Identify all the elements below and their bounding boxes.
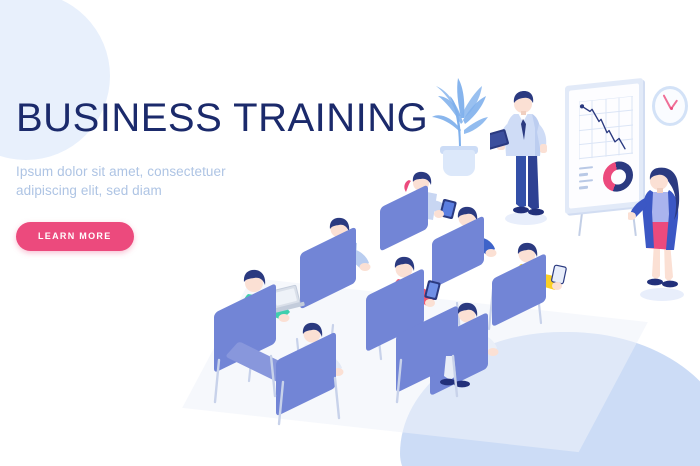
learn-more-button[interactable]: LEARN MORE — [16, 222, 134, 251]
chair-legs-front — [205, 330, 525, 440]
hero-text-block: BUSINESS TRAINING Ipsum dolor sit amet, … — [16, 96, 436, 251]
clock-center-pin — [670, 107, 673, 110]
whiteboard-text-lines — [579, 166, 593, 193]
hero-banner: BUSINESS TRAINING Ipsum dolor sit amet, … — [0, 0, 700, 466]
hero-subtitle: Ipsum dolor sit amet, consectetuer adipi… — [16, 162, 246, 200]
page-title: BUSINESS TRAINING — [16, 96, 436, 140]
line-chart-icon — [579, 96, 633, 160]
subtitle-line-2: adipiscing elit, sed diam — [16, 181, 246, 200]
plant-leaves-icon — [428, 72, 490, 154]
presenter-figure — [490, 88, 568, 220]
wall-clock-icon — [652, 86, 688, 126]
subtitle-line-1: Ipsum dolor sit amet, consectetuer — [16, 162, 246, 181]
